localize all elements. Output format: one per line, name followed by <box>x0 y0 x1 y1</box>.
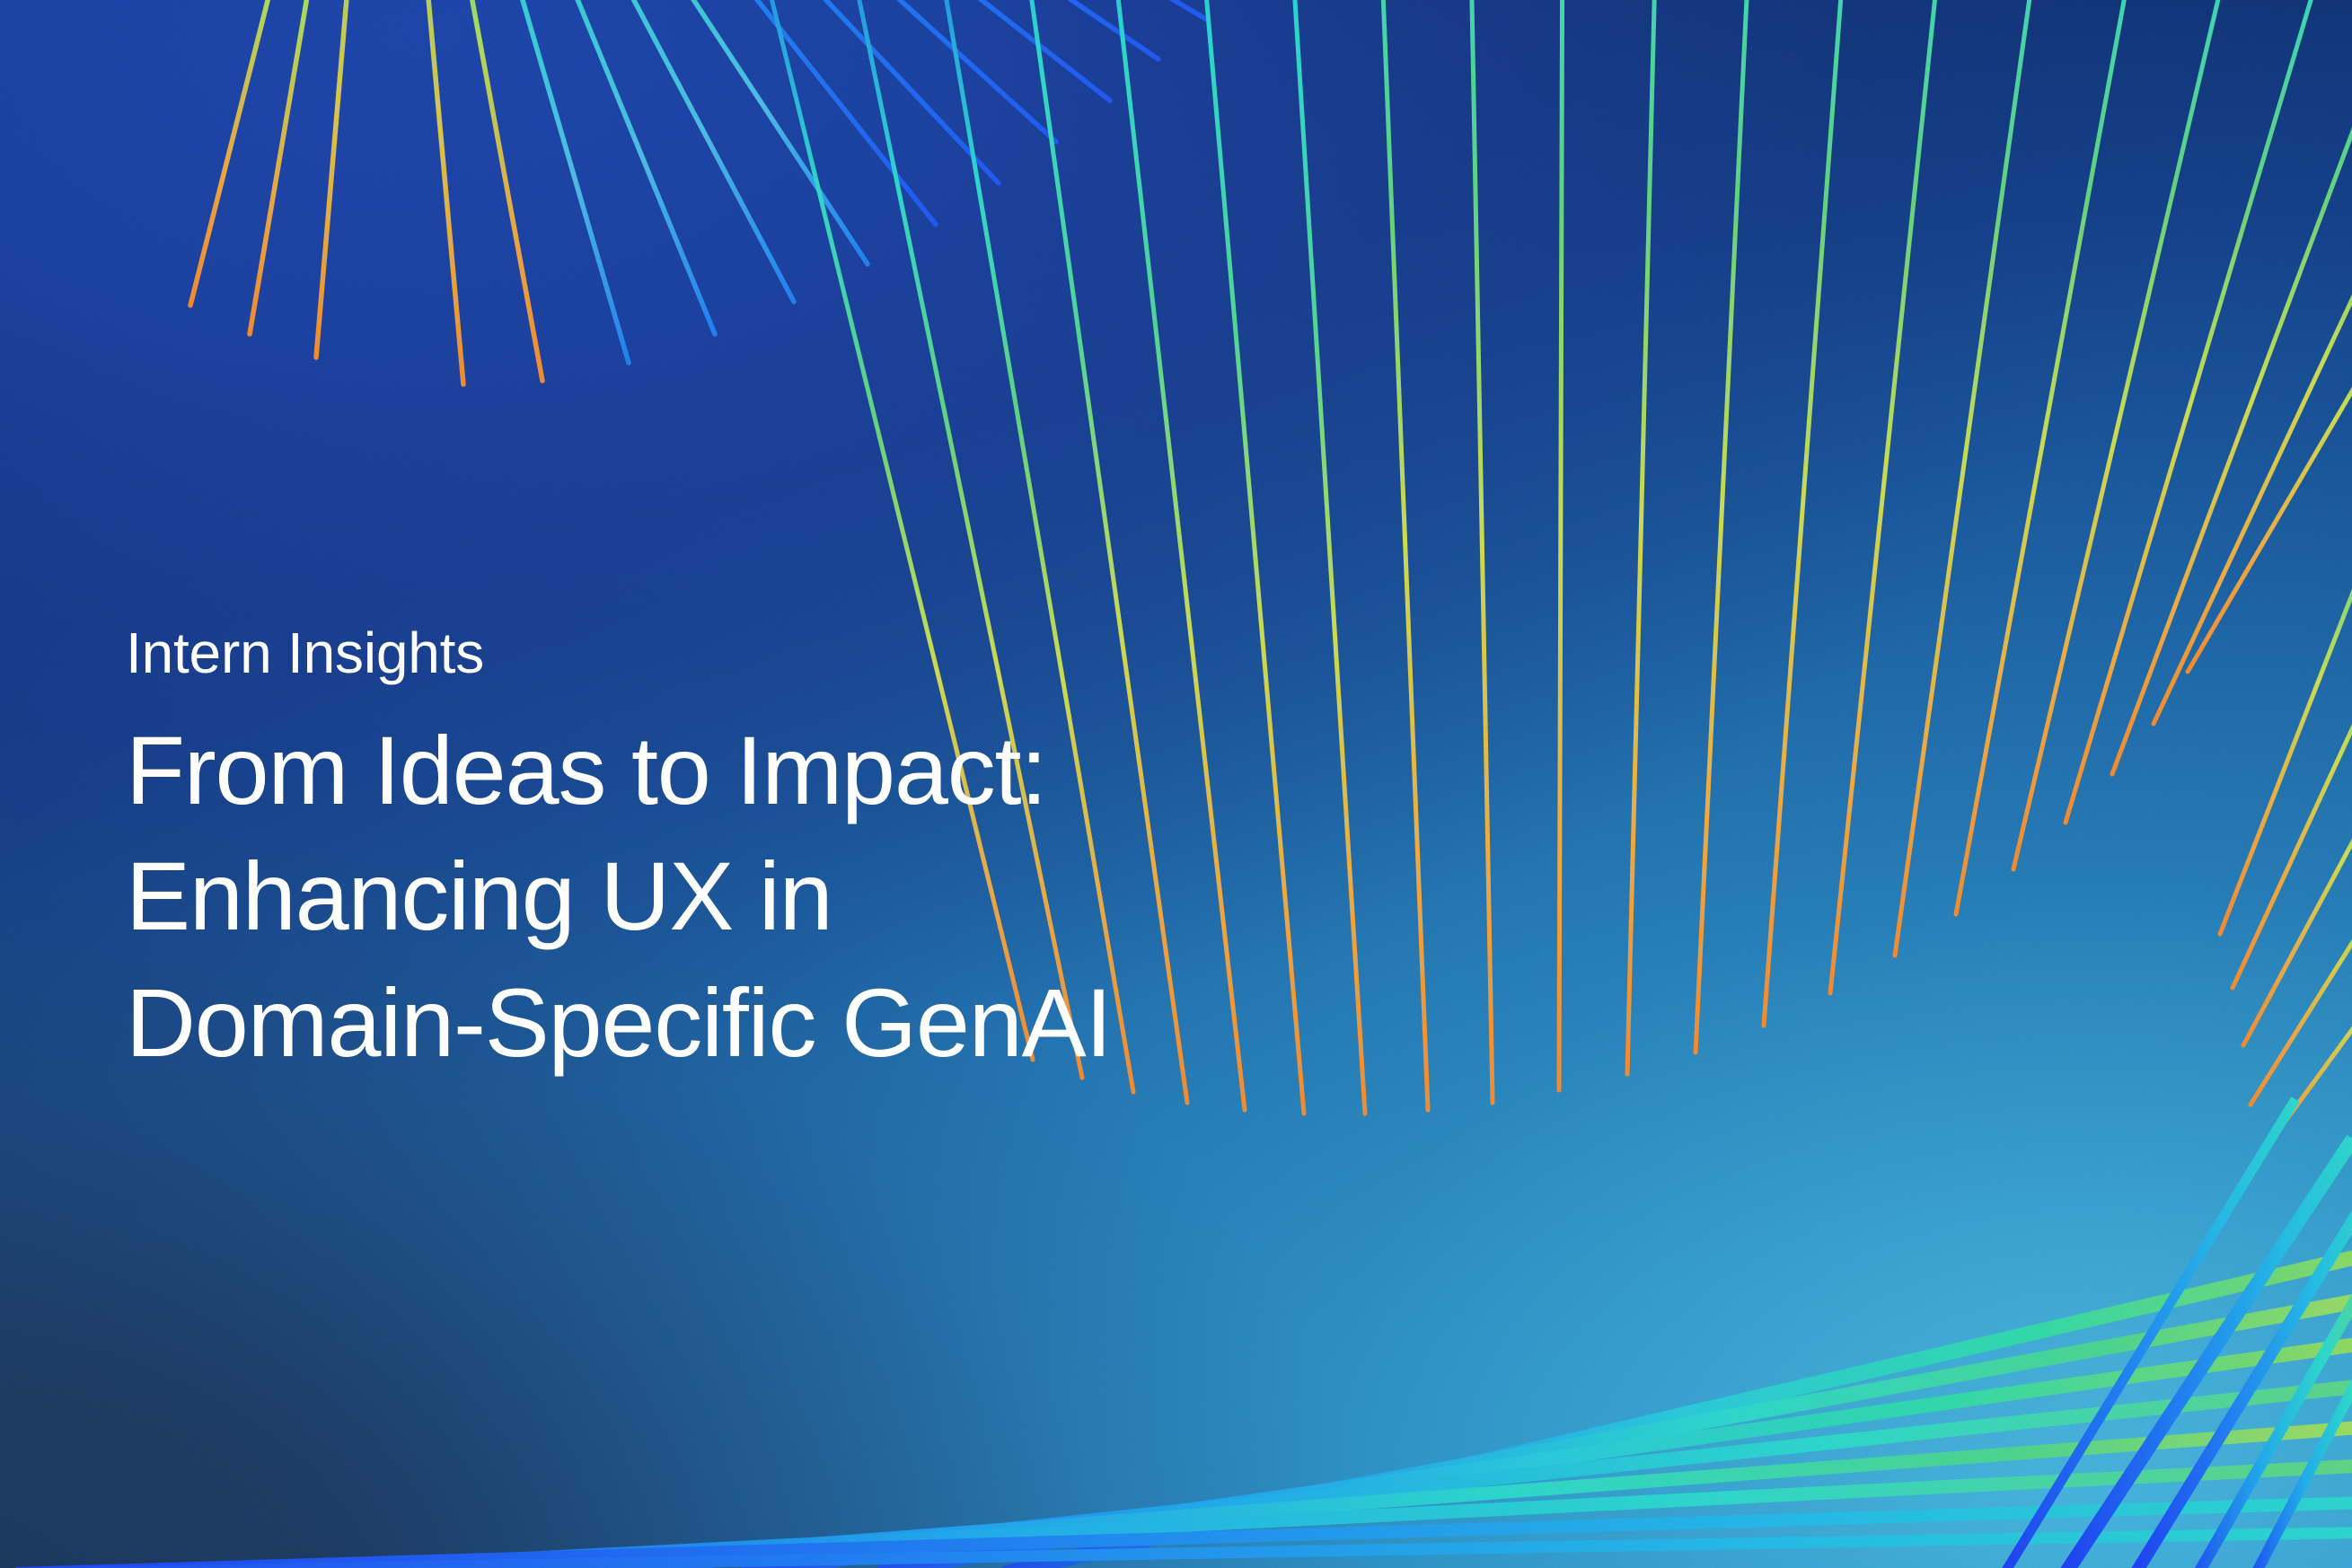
page-title-line-1: From Ideas to Impact: <box>126 708 1581 833</box>
slide-text-block: Intern Insights From Ideas to Impact: En… <box>126 623 1581 1086</box>
page-title: From Ideas to Impact: Enhancing UX in Do… <box>126 708 1581 1086</box>
slide-canvas: Intern Insights From Ideas to Impact: En… <box>0 0 2352 1568</box>
eyebrow-label: Intern Insights <box>126 623 1581 684</box>
page-title-line-3: Domain-Specific GenAI <box>126 960 1581 1086</box>
page-title-line-2: Enhancing UX in <box>126 833 1581 959</box>
